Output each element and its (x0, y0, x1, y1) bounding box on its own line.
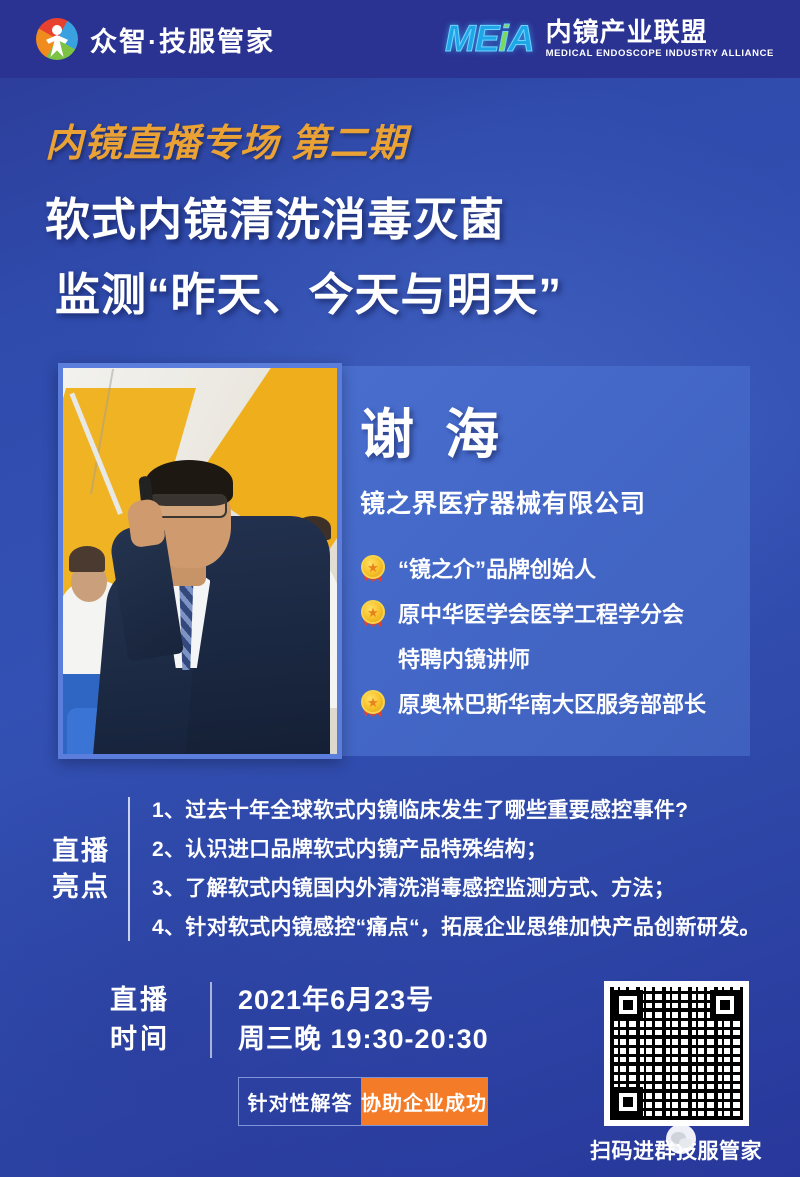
title-block: 内镜直播专场 第二期 软式内镜清洗消毒灭菌 监测“昨天、今天与明天” (0, 78, 800, 323)
highlights-divider (128, 797, 130, 941)
tag-filled[interactable]: 协助企业成功 (361, 1078, 487, 1125)
tag-outline[interactable]: 针对性解答 (239, 1078, 361, 1125)
schedule-label-line-2: 时间 (110, 1020, 196, 1059)
highlights-section: 直播 亮点 1、过去十年全球软式内镜临床发生了哪些重要感控事件? 2、认识进口品… (0, 791, 800, 947)
gold-medal-icon: ★ (360, 690, 386, 716)
meia-cn-name: 内镜产业联盟 (546, 19, 774, 46)
speaker-name: 谢 海 (360, 408, 750, 462)
qr-code-pattern (610, 987, 743, 1120)
brand-zhongzhi: 众智·技服管家 (36, 18, 275, 60)
tag-group: 针对性解答 协助企业成功 (238, 1077, 488, 1126)
meia-names: 内镜产业联盟 MEDICAL ENDOSCOPE INDUSTRY ALLIAN… (546, 19, 774, 58)
speaker-photo-frame (58, 363, 342, 759)
highlight-item: 2、认识进口品牌软式内镜产品特殊结构； (152, 830, 800, 869)
credential-item: ★ “镜之介”品牌创始人 (360, 552, 750, 584)
highlights-label: 直播 亮点 (52, 833, 128, 906)
schedule-date: 2021年6月23号 (238, 981, 489, 1020)
qr-code-icon[interactable] (604, 981, 749, 1126)
highlight-item: 3、了解软式内镜国内外清洗消毒感控监测方式、方法； (152, 869, 800, 908)
person-head-shape (52, 25, 62, 35)
speaker-photo (63, 368, 337, 754)
wechat-icon (666, 1124, 696, 1154)
gold-medal-icon: ★ (360, 555, 386, 581)
footer-section: 直播 时间 2021年6月23号 周三晚 19:30-20:30 针对性解答 协… (0, 981, 800, 1165)
highlight-item: 4、针对软式内镜感控“痛点“，拓展企业思维加快产品创新研发。 (152, 908, 800, 947)
credential-text: “镜之介”品牌创始人 (398, 552, 596, 584)
credential-text: 原中华医学会医学工程学分会 (398, 597, 684, 629)
brand-meia: MEiA 内镜产业联盟 MEDICAL ENDOSCOPE INDUSTRY A… (445, 19, 774, 58)
schedule-divider (210, 982, 212, 1058)
speaker-section: 谢 海 镜之界医疗器械有限公司 ★ “镜之介”品牌创始人 ★ (0, 363, 800, 763)
credential-item: ★ 原中华医学会医学工程学分会 (360, 597, 750, 629)
meia-logo-icon: MEiA (445, 20, 534, 57)
title-kicker: 内镜直播专场 第二期 (45, 112, 800, 167)
schedule-block: 直播 时间 2021年6月23号 周三晚 19:30-20:30 针对性解答 协… (110, 981, 489, 1126)
person-body-shape (46, 35, 68, 57)
schedule-row: 直播 时间 2021年6月23号 周三晚 19:30-20:30 (110, 981, 489, 1059)
schedule-hours: 周三晚 19:30-20:30 (238, 1020, 489, 1059)
medal-disc: ★ (361, 690, 385, 714)
schedule-values: 2021年6月23号 周三晚 19:30-20:30 (238, 981, 489, 1059)
zhongzhi-circle-person-icon (36, 18, 78, 60)
gold-medal-icon: ★ (360, 600, 386, 626)
schedule-label: 直播 时间 (110, 981, 196, 1059)
title-line-2: 监测“昨天、今天与明天” (45, 258, 800, 323)
speaker-credentials-list: ★ “镜之介”品牌创始人 ★ 原中华医学会医学工程学分会 特聘内镜讲师 (360, 552, 750, 719)
highlights-label-line-2: 亮点 (52, 869, 128, 905)
speaker-company: 镜之界医疗器械有限公司 (360, 484, 750, 520)
medal-disc: ★ (361, 600, 385, 624)
header-bar: 众智·技服管家 MEiA 内镜产业联盟 MEDICAL ENDOSCOPE IN… (0, 0, 800, 78)
medal-disc: ★ (361, 555, 385, 579)
highlights-label-line-1: 直播 (52, 833, 128, 869)
credential-item-continuation: 特聘内镜讲师 (360, 642, 750, 674)
poster-root: 众智·技服管家 MEiA 内镜产业联盟 MEDICAL ENDOSCOPE IN… (0, 0, 800, 1177)
wechat-bubble-small (679, 1138, 692, 1148)
schedule-label-line-1: 直播 (110, 981, 196, 1020)
audience-hair-left (69, 546, 105, 572)
qr-finder-bottom-left (613, 1087, 643, 1117)
credential-text: 原奥林巴斯华南大区服务部部长 (398, 687, 706, 719)
highlights-list: 1、过去十年全球软式内镜临床发生了哪些重要感控事件? 2、认识进口品牌软式内镜产… (152, 791, 800, 947)
meia-en-name: MEDICAL ENDOSCOPE INDUSTRY ALLIANCE (546, 49, 774, 59)
title-line-1: 软式内镜清洗消毒灭菌 (45, 183, 800, 248)
credential-text: 特聘内镜讲师 (360, 642, 530, 674)
qr-finder-top-left (613, 990, 643, 1020)
highlight-item: 1、过去十年全球软式内镜临床发生了哪些重要感控事件? (152, 791, 800, 830)
credential-item: ★ 原奥林巴斯华南大区服务部部长 (360, 687, 750, 719)
qr-block: 扫码进群技服管家 (590, 981, 780, 1165)
qr-finder-top-right (710, 990, 740, 1020)
brand-name-text: 众智·技服管家 (90, 20, 275, 59)
